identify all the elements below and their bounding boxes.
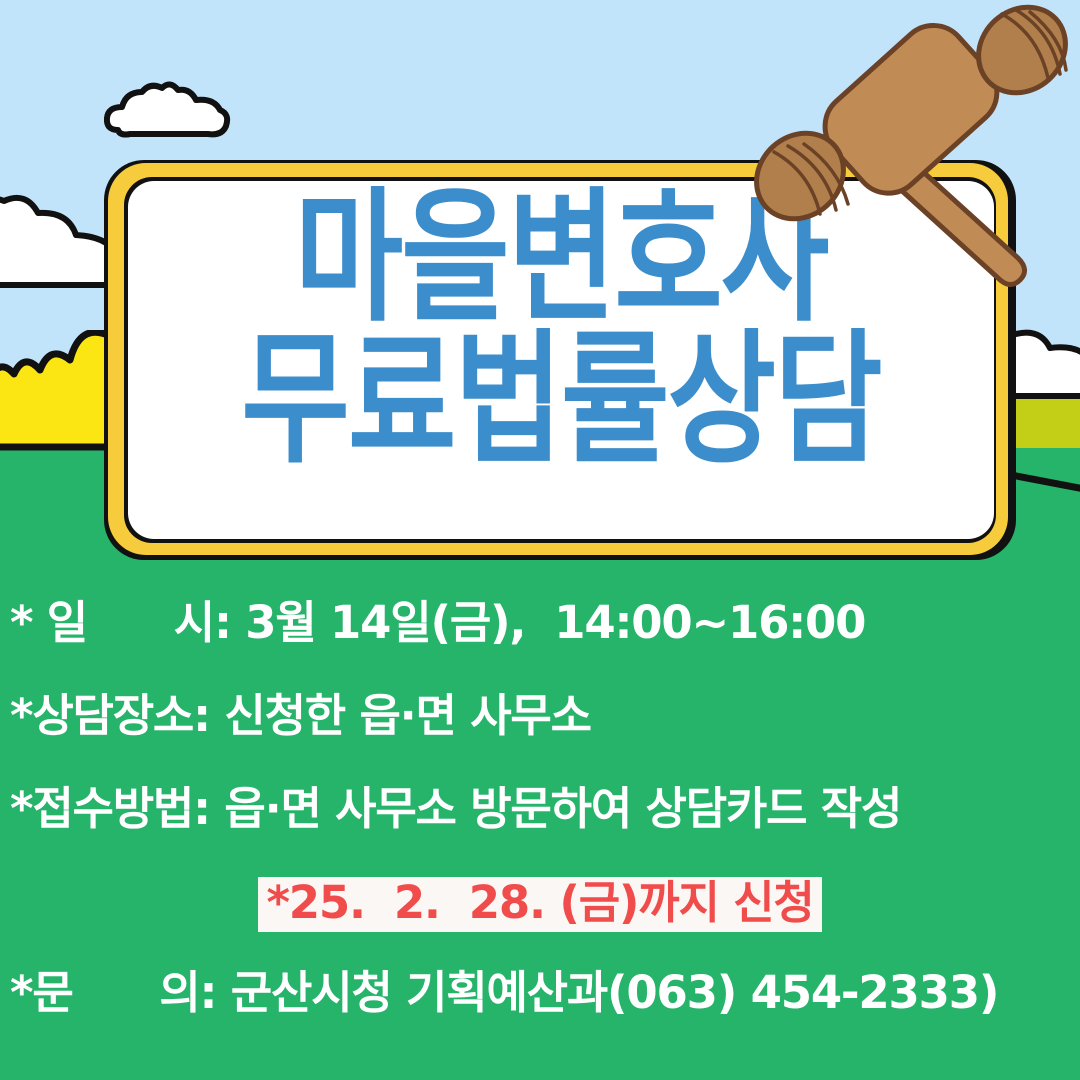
info-block: * 일 시: 3월 14일(금), 14:00~16:00 *상담장소: 신청한… [0,560,1080,1080]
info-deadline-highlight: *25. 2. 28. (금)까지 신청 [258,877,821,932]
info-place-line: *상담장소: 신청한 읍·면 사무소 [10,693,1070,738]
gavel-icon [730,0,1080,300]
info-deadline-row: *25. 2. 28. (금)까지 신청 [0,877,1080,932]
info-date-line: * 일 시: 3월 14일(금), 14:00~16:00 [10,600,1070,645]
info-method-line: *접수방법: 읍·면 사무소 방문하여 상담카드 작성 [10,786,1070,831]
info-contact-line: *문 의: 군산시청 기획예산과(063) 454-2333) [10,970,1070,1015]
poster-canvas: 마을변호사 무료법률상담 [0,0,1080,1080]
title-line-2: 무료법률상담 [128,337,994,464]
cloud-icon [104,78,234,142]
